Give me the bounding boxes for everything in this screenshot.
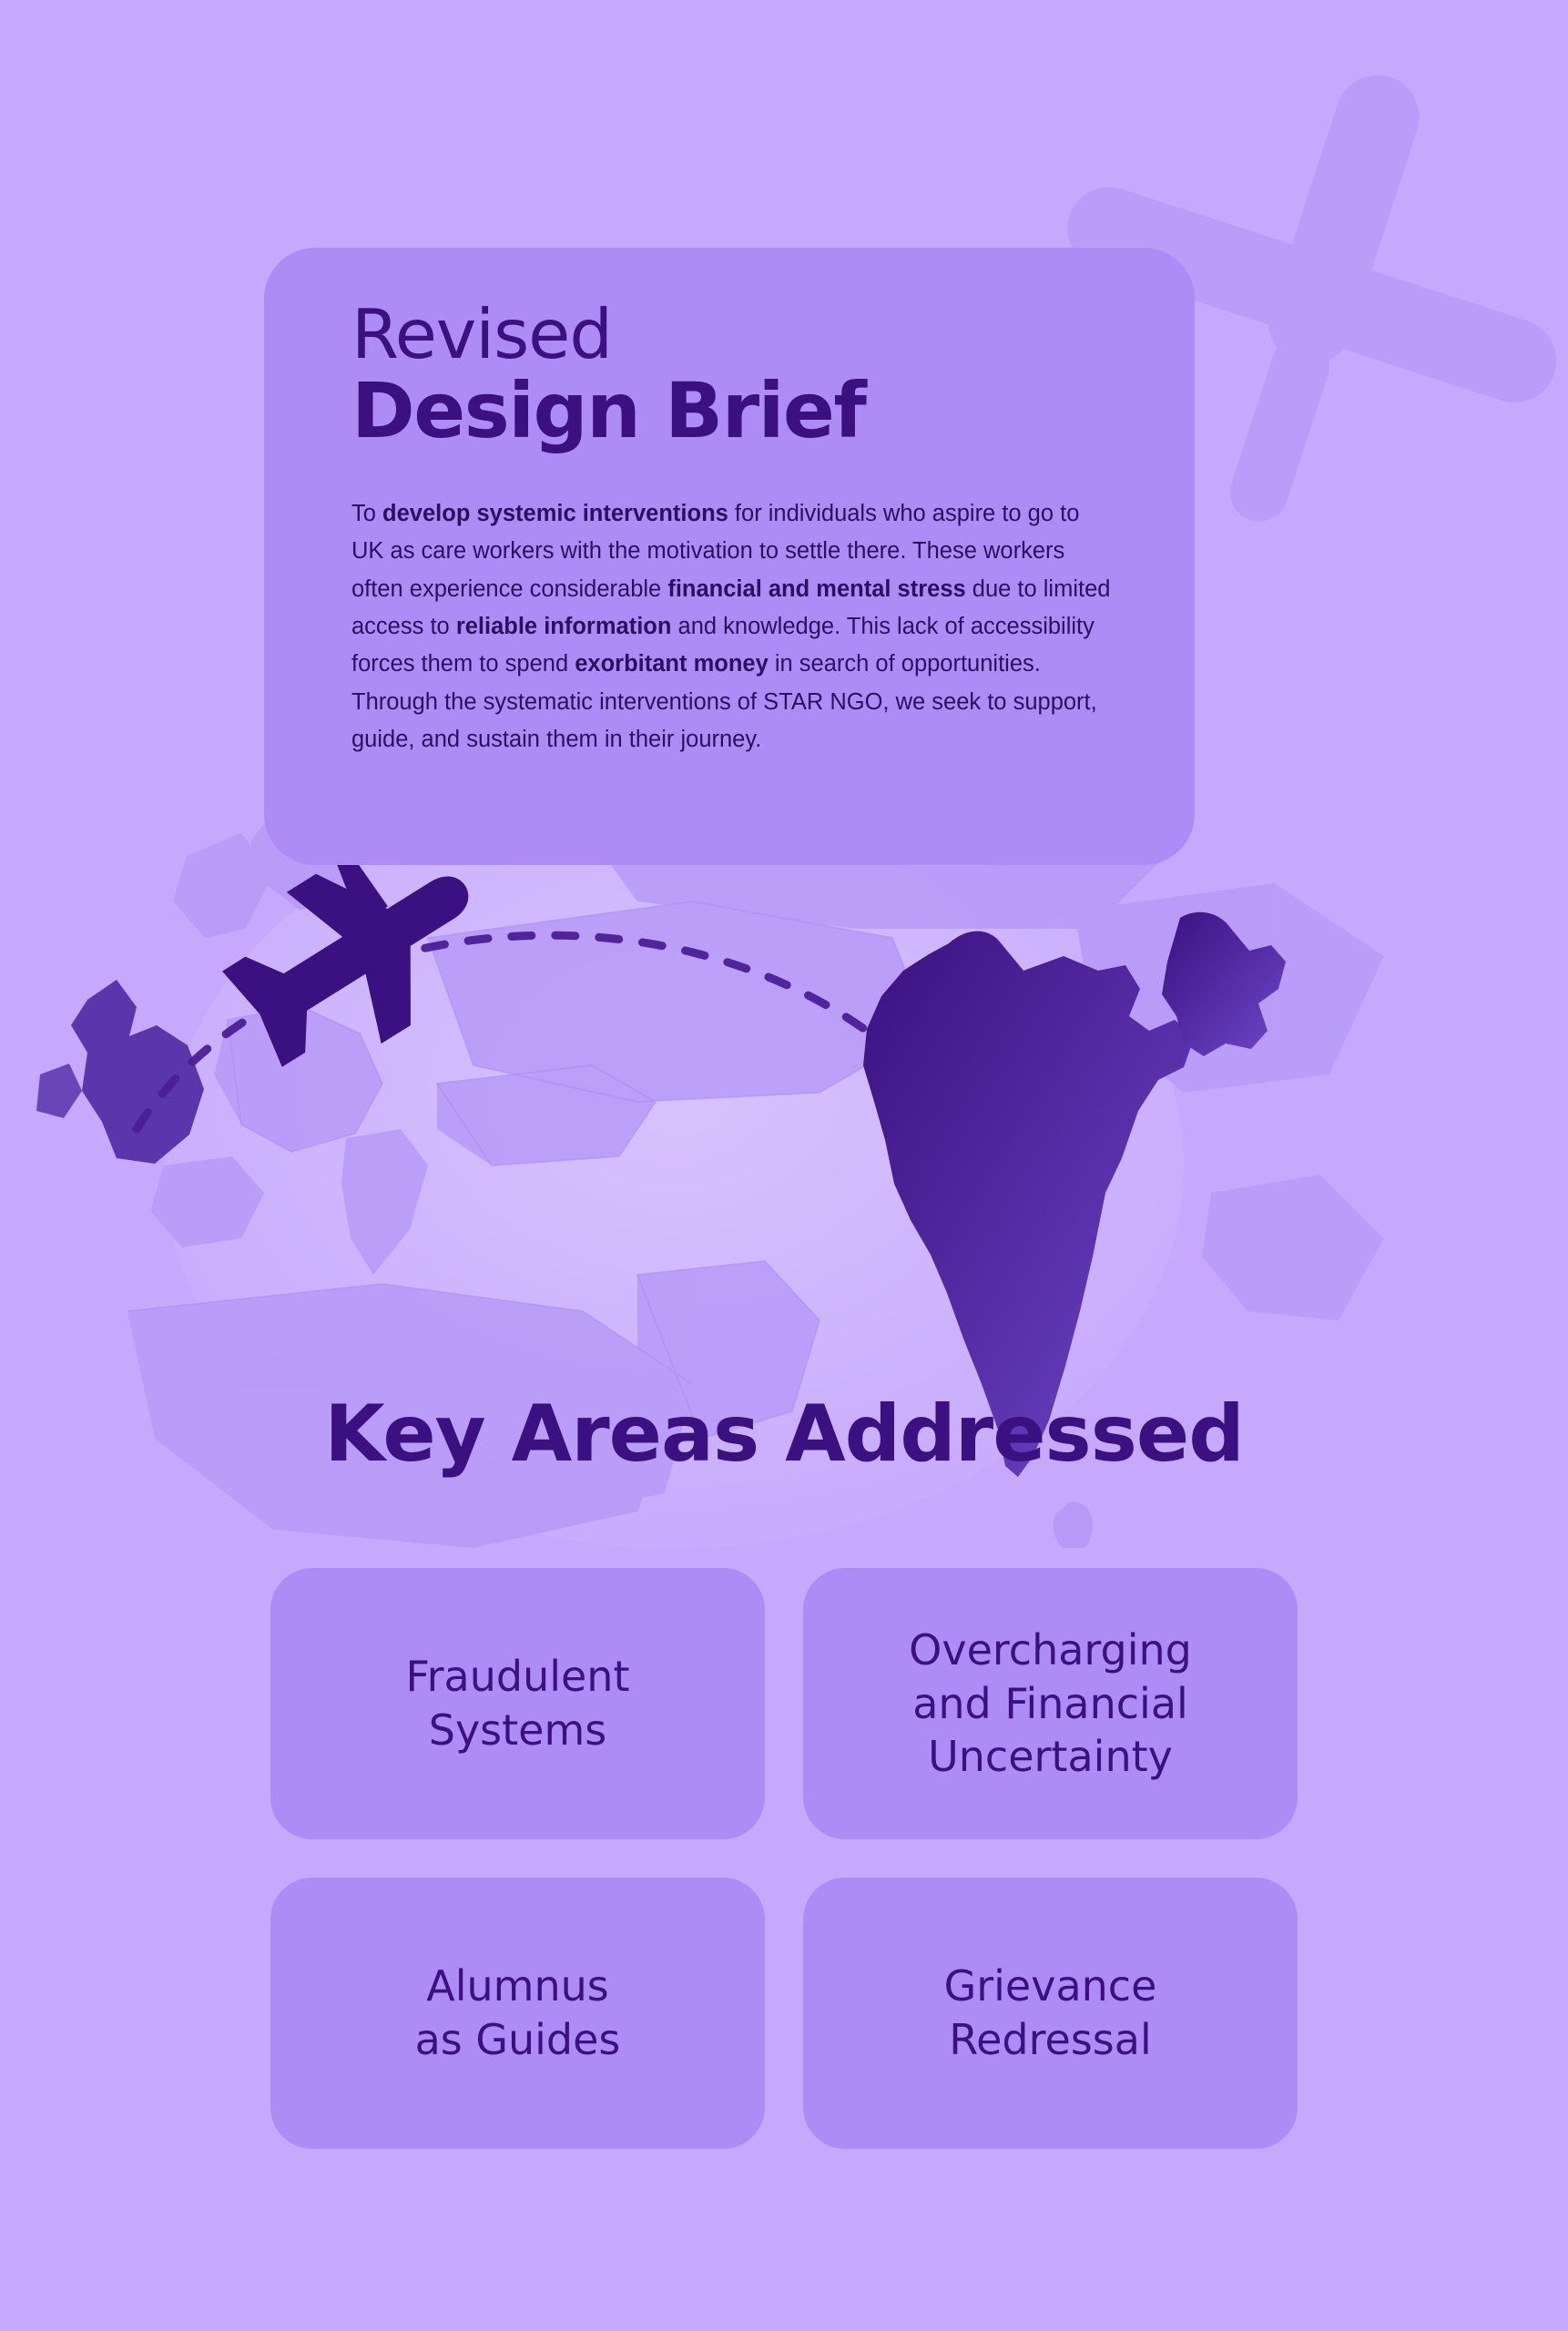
map-borders xyxy=(127,801,1166,1439)
brief-emphasis: develop systemic interventions xyxy=(382,501,728,526)
key-area-card[interactable]: Alumnus as Guides xyxy=(270,1878,765,2149)
brief-emphasis: financial and mental stress xyxy=(667,576,965,602)
uk-region-icon xyxy=(36,980,204,1164)
key-areas-heading: Key Areas Addressed xyxy=(0,1389,1568,1480)
key-area-card-label: Grievance Redressal xyxy=(944,1959,1157,2067)
brief-title-line2: Design Brief xyxy=(351,371,1129,452)
brief-emphasis: reliable information xyxy=(456,614,672,639)
brief-text-run: To xyxy=(351,501,382,526)
brief-title-line1: Revised xyxy=(351,300,1129,369)
key-area-card[interactable]: Overcharging and Financial Uncertainty xyxy=(803,1568,1298,1839)
key-area-card[interactable]: Grievance Redressal xyxy=(803,1878,1298,2149)
brief-body-text: To develop systemic interventions for in… xyxy=(351,495,1116,758)
key-area-card-label: Overcharging and Financial Uncertainty xyxy=(909,1624,1192,1785)
brief-emphasis: exorbitant money xyxy=(575,651,769,677)
dashed-flight-path-icon xyxy=(137,935,920,1129)
key-area-card-label: Fraudulent Systems xyxy=(406,1650,630,1757)
key-area-card[interactable]: Fraudulent Systems xyxy=(270,1568,765,1839)
key-area-card-label: Alumnus as Guides xyxy=(415,1959,621,2067)
design-brief-card: Revised Design Brief To develop systemic… xyxy=(264,248,1195,865)
key-areas-grid: Fraudulent SystemsOvercharging and Finan… xyxy=(270,1568,1298,2149)
